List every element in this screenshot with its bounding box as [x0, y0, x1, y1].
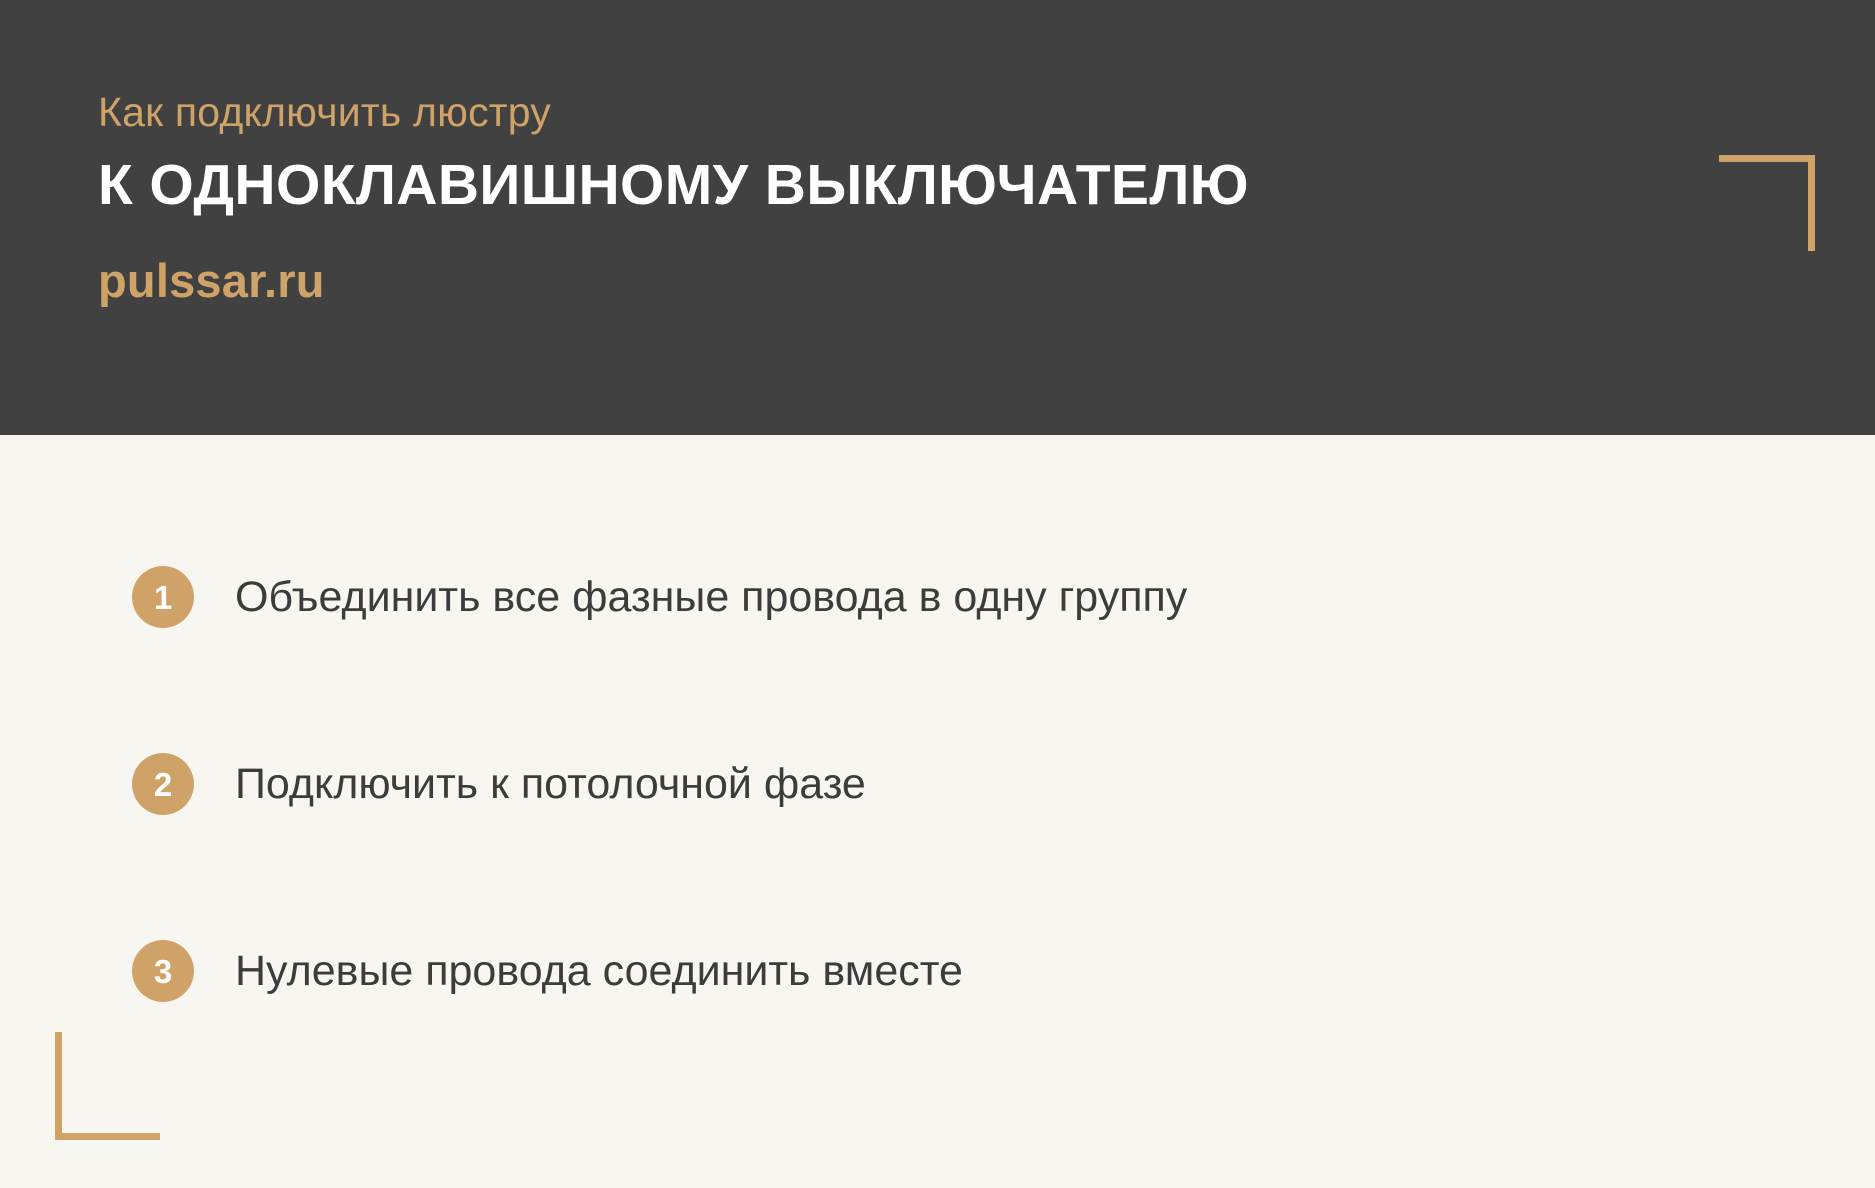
corner-bracket-horizontal-bar [55, 1133, 160, 1140]
corner-bracket-bottom-left-icon [55, 1032, 160, 1140]
step-label: Объединить все фазные провода в одну гру… [235, 571, 1187, 623]
step-number-badge: 1 [132, 566, 194, 628]
step-number-badge: 2 [132, 753, 194, 815]
slide-canvas: Как подключить люстру К ОДНОКЛАВИШНОМУ В… [0, 0, 1875, 1188]
page-title: К ОДНОКЛАВИШНОМУ ВЫКЛЮЧАТЕЛЮ [98, 150, 1249, 220]
header-text-block: Как подключить люстру К ОДНОКЛАВИШНОМУ В… [98, 0, 1698, 435]
corner-bracket-vertical-bar [1808, 155, 1815, 251]
corner-bracket-horizontal-bar [1719, 155, 1815, 162]
step-label: Нулевые провода соединить вместе [235, 945, 963, 997]
corner-bracket-vertical-bar [55, 1032, 62, 1140]
corner-bracket-top-right-icon [1719, 155, 1815, 251]
list-item: 1 Объединить все фазные провода в одну г… [132, 565, 1187, 629]
brand-name: pulssar.ru [98, 252, 325, 310]
steps-list: 1 Объединить все фазные провода в одну г… [0, 435, 1875, 1188]
step-label: Подключить к потолочной фазе [235, 758, 866, 810]
step-number-badge: 3 [132, 940, 194, 1002]
list-item: 2 Подключить к потолочной фазе [132, 752, 866, 816]
kicker-text: Как подключить люстру [98, 88, 551, 136]
header-band: Как подключить люстру К ОДНОКЛАВИШНОМУ В… [0, 0, 1875, 435]
list-item: 3 Нулевые провода соединить вместе [132, 939, 963, 1003]
